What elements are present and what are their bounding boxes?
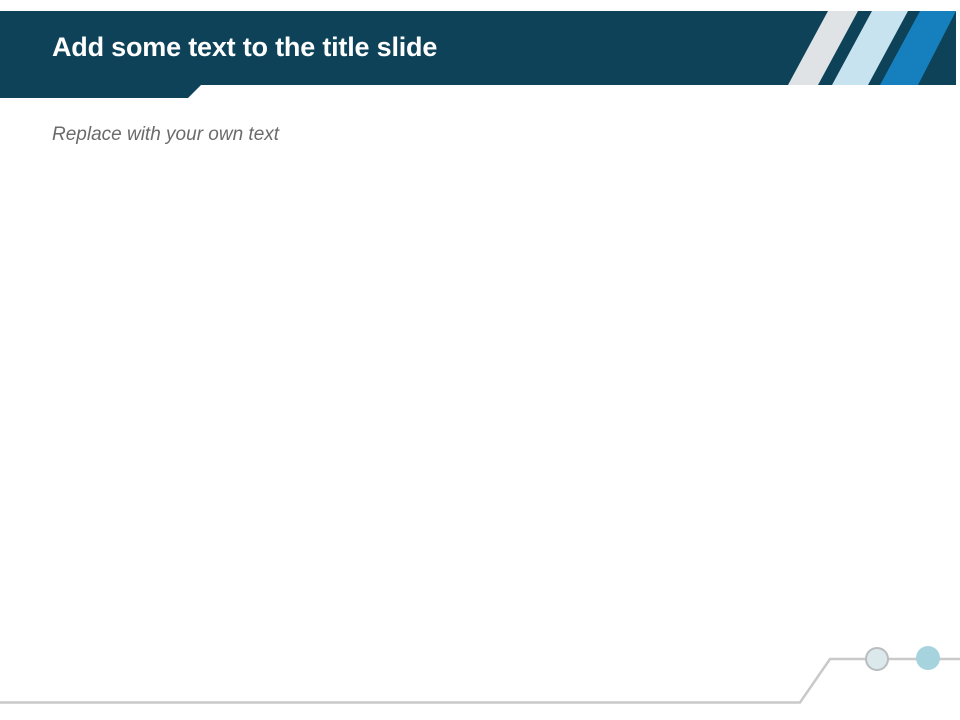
title-banner: Add some text to the title slide xyxy=(0,11,956,98)
connector-node-pale-icon xyxy=(866,648,888,670)
body-placeholder-text[interactable]: Replace with your own text xyxy=(52,123,872,148)
slide-canvas: Add some text to the title slide Replace… xyxy=(0,0,960,720)
bottom-decoration xyxy=(0,630,960,720)
bottom-connector-line xyxy=(0,659,960,703)
page-title[interactable]: Add some text to the title slide xyxy=(52,32,752,63)
connector-node-teal-icon xyxy=(916,646,940,670)
